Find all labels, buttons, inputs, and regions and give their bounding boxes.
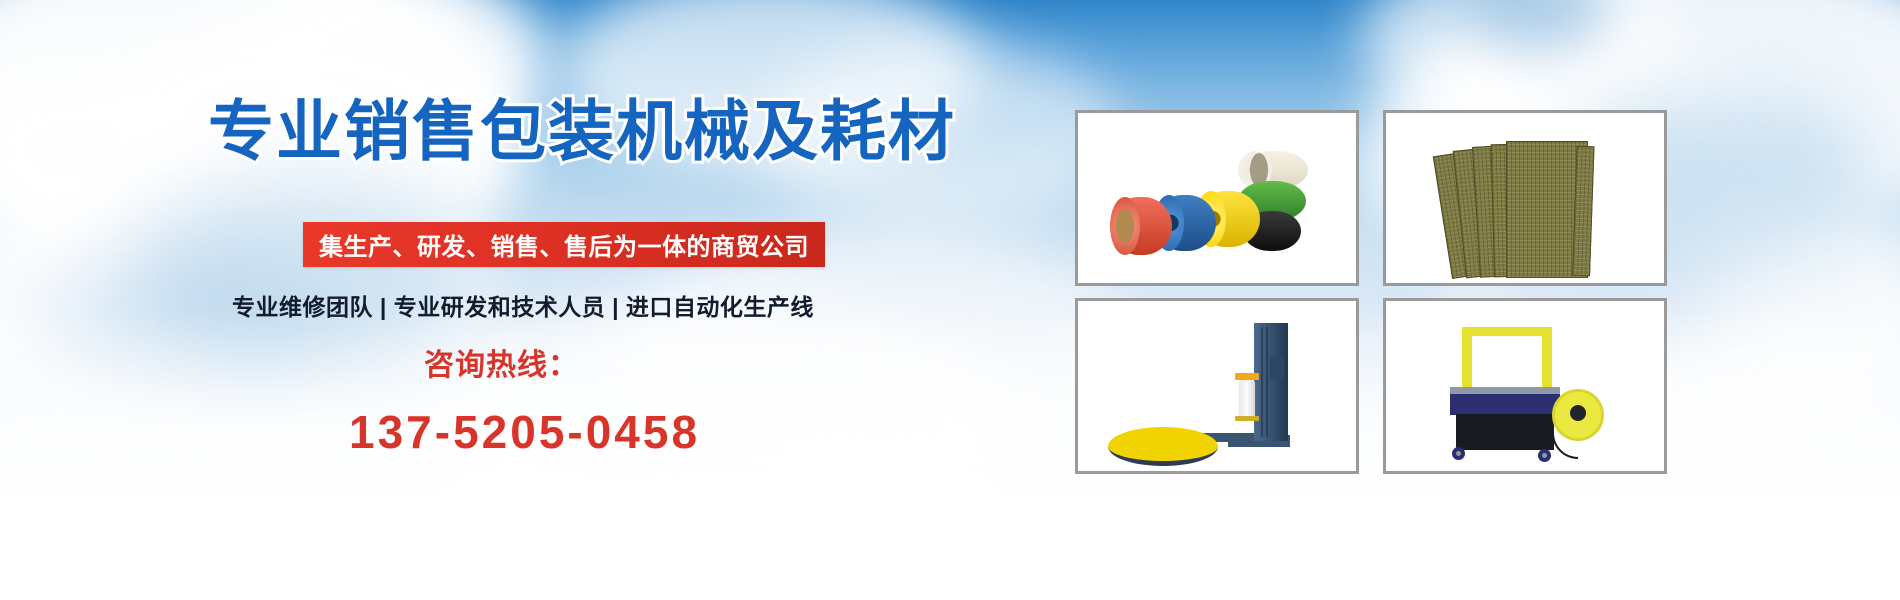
woven-sack [1572, 146, 1595, 277]
woven-sacks-illustration [1386, 113, 1664, 283]
pallet-stretch-wrapper-illustration [1078, 301, 1356, 471]
tagline-text: 集生产、研发、销售、售后为一体的商贸公司 [319, 227, 809, 262]
packing-straps-rolls-illustration [1078, 113, 1356, 283]
wrapper-mast-groove [1266, 327, 1268, 437]
wrapper-mast [1254, 323, 1288, 441]
wrapper-mast-groove [1261, 327, 1263, 437]
promo-banner: 专业销售包装机械及耗材 集生产、研发、销售、售后为一体的商贸公司 专业维修团队 … [0, 0, 1900, 600]
caster-wheel [1538, 449, 1551, 462]
product-card-woven-sacks[interactable] [1383, 110, 1667, 286]
strapping-reel-core [1570, 405, 1586, 421]
wrapper-turntable [1108, 427, 1218, 466]
strapping-machine-body [1450, 394, 1560, 415]
wrapper-film-carriage [1235, 373, 1259, 380]
banner-copy: 专业销售包装机械及耗材 集生产、研发、销售、售后为一体的商贸公司 专业维修团队 … [0, 0, 860, 600]
strap-roll-red [1110, 197, 1172, 255]
product-image-grid [1075, 110, 1667, 482]
feature-list: 专业维修团队 | 专业研发和技术人员 | 进口自动化生产线 [232, 288, 814, 322]
strapping-machine-cabinet [1456, 414, 1554, 450]
hotline-label: 咨询热线： [424, 340, 579, 384]
wrapper-stretch-film-roll [1239, 380, 1255, 418]
product-card-pallet-stretch-wrapper[interactable] [1075, 298, 1359, 474]
hotline-phone-number[interactable]: 137-5205-0458 [349, 405, 700, 459]
product-card-automatic-strapping-machine[interactable] [1383, 298, 1667, 474]
product-card-packing-straps-rolls[interactable] [1075, 110, 1359, 286]
wrapper-film-holder [1235, 416, 1259, 421]
strapping-arch-top [1462, 327, 1552, 336]
power-cable [1552, 431, 1578, 459]
caster-wheel [1452, 447, 1465, 460]
tagline-ribbon: 集生产、研发、销售、售后为一体的商贸公司 [303, 222, 825, 267]
strapping-arch-right [1542, 327, 1552, 389]
banner-headline: 专业销售包装机械及耗材 [208, 98, 956, 164]
automatic-strapping-machine-illustration [1386, 301, 1664, 471]
wrapper-control-panel [1270, 357, 1284, 379]
strapping-arch-left [1462, 327, 1472, 389]
